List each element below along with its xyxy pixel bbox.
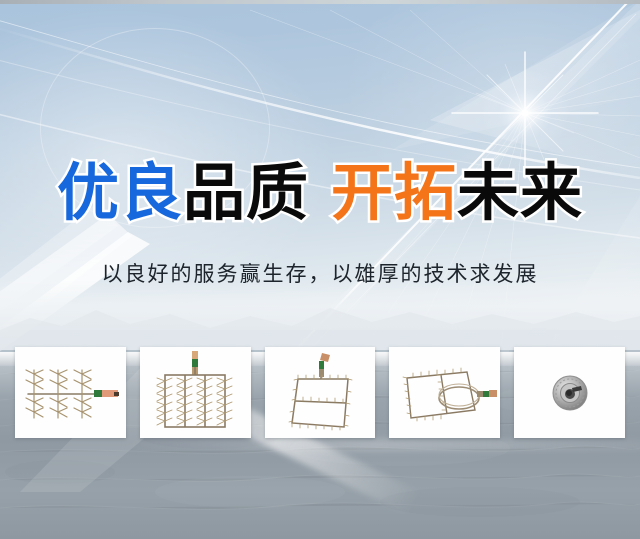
promo-banner: 优良品质开拓未来 以良好的服务赢生存，以雄厚的技术求发展 梳齿挂具	[0, 0, 640, 539]
product-thumbnail-row: 梳齿挂具	[15, 347, 625, 438]
headline-segment-3: 开拓	[331, 162, 457, 224]
product-card-2[interactable]: 梯形挂具	[140, 347, 251, 438]
banner-subtitle: 以良好的服务赢生存，以雄厚的技术求发展	[0, 258, 640, 288]
product-card-5[interactable]: 旋转挂盘	[514, 347, 625, 438]
product-card-3[interactable]: 方框挂具	[265, 347, 376, 438]
ground-light-streak-secondary	[120, 440, 640, 450]
headline-segment-4: 未来	[457, 162, 583, 224]
product-card-1[interactable]: 梳齿挂具	[15, 347, 126, 438]
frame-rack-icon	[278, 351, 362, 435]
product-card-4[interactable]: 圆环挂具	[389, 347, 500, 438]
top-edge-strip	[0, 0, 640, 4]
headline-segment-1: 优良	[57, 162, 183, 224]
starburst-rotor-icon	[526, 349, 614, 437]
page-title: 优良品质开拓未来	[0, 162, 640, 224]
headline-container: 优良品质开拓未来	[0, 162, 640, 224]
headline-segment-2: 品质	[183, 162, 309, 224]
ring-frame-rack-icon	[393, 358, 497, 428]
comb-rack-icon	[18, 356, 122, 430]
atmospheric-haze	[0, 280, 640, 350]
ladder-rack-icon	[151, 351, 239, 435]
